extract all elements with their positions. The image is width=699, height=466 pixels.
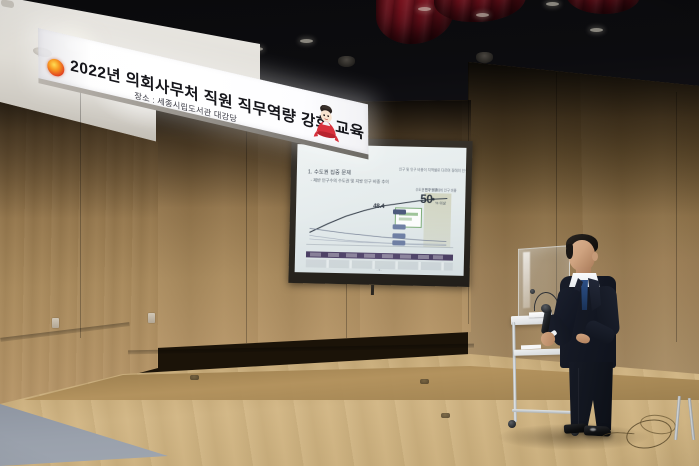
hair-side <box>566 244 573 259</box>
x-axis-tick <box>328 253 339 257</box>
lectern-caster <box>508 420 516 428</box>
wall-outlet[interactable] <box>148 313 155 323</box>
ceiling-spotlight <box>338 56 355 67</box>
slide-page-number: - 3 - <box>377 268 382 272</box>
ceiling-spotlight <box>476 52 493 63</box>
chart-peak-unit: % 이상 <box>435 201 446 206</box>
presenter <box>540 228 626 440</box>
chart-series-tag <box>393 209 406 214</box>
gooseneck-mic-head[interactable] <box>530 289 535 294</box>
lecture-hall-photo: 1. 수도권 집중 문제 - 제반 인구수의 수도권 및 지방 인구 비중 추이… <box>0 0 699 466</box>
shoe-highlight <box>590 428 596 431</box>
screen-support-pole <box>371 285 374 295</box>
wall-outlet[interactable] <box>52 318 59 328</box>
floor-socket[interactable] <box>420 379 429 384</box>
chart-peak-value: 50 <box>420 195 432 207</box>
ceiling-grid-light <box>300 39 313 43</box>
x-axis-tick <box>400 255 411 259</box>
slide-chart: 수도권 인구 비중 50 % 이상 48.4 <box>306 190 454 255</box>
ceiling-grid-light <box>590 28 603 32</box>
lectern-shelf-papers[interactable] <box>521 345 541 350</box>
chart-peak-caption: 수도권 인구 비중 <box>415 187 437 193</box>
ceiling-grid-light <box>476 13 489 17</box>
ceiling-grid-light <box>546 2 559 6</box>
trouser-crease <box>578 368 579 424</box>
floor-socket[interactable] <box>441 413 450 418</box>
chart-series-tag <box>393 224 406 229</box>
chart-mid-value: 48.4 <box>373 203 384 210</box>
suit-trousers <box>567 362 615 430</box>
chart-series-tag <box>392 240 405 245</box>
wall-seam <box>676 92 677 342</box>
chart-series-tag <box>392 233 405 238</box>
ceiling-vent <box>1 0 14 8</box>
x-axis-tick <box>310 253 321 257</box>
x-axis-tick <box>418 255 429 259</box>
x-axis-tick <box>382 254 393 258</box>
lectern-reflection <box>523 252 530 308</box>
x-axis-tick <box>433 255 443 259</box>
x-axis-tick <box>364 254 375 258</box>
mascot-character <box>310 99 342 146</box>
x-axis-tick <box>346 254 357 258</box>
ceiling-grid-light <box>418 7 431 11</box>
emblem-logo <box>47 57 64 78</box>
slide-annotation: 인구 및 인구 비중이 지역별로 다르며 장래의 인구비중 및 지역소멸 전망 <box>399 167 467 175</box>
callout-bar <box>399 217 412 220</box>
ear <box>592 252 598 261</box>
floor-socket[interactable] <box>190 375 199 380</box>
